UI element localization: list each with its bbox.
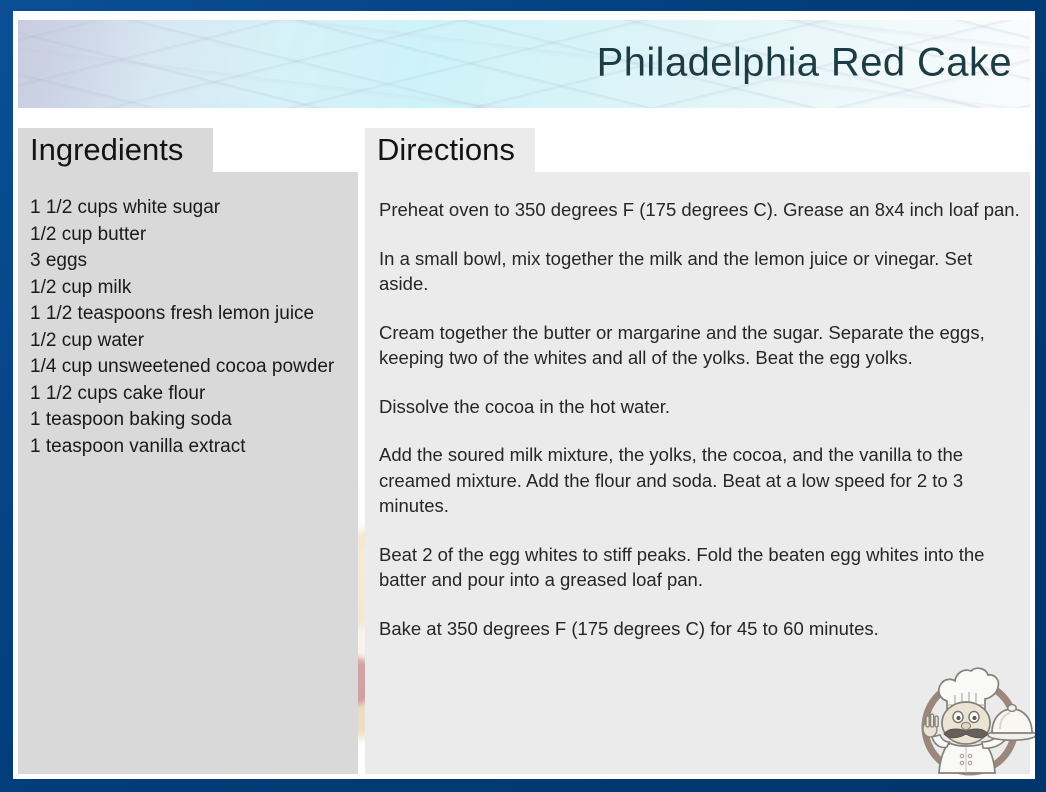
direction-step: Cream together the butter or margarine a… bbox=[379, 320, 1024, 371]
direction-step: Dissolve the cocoa in the hot water. bbox=[379, 394, 1024, 420]
ingredients-heading: Ingredients bbox=[18, 128, 213, 172]
ingredients-list: 1 1/2 cups white sugar 1/2 cup butter 3 … bbox=[30, 195, 354, 460]
list-item: 1/2 cup butter bbox=[30, 222, 354, 249]
recipe-card: Philadelphia Red Cake bbox=[0, 0, 1046, 792]
list-item: 3 eggs bbox=[30, 248, 354, 275]
list-item: 1 1/2 teaspoons fresh lemon juice bbox=[30, 301, 354, 328]
directions-steps: Preheat oven to 350 degrees F (175 degre… bbox=[379, 197, 1024, 641]
direction-step: Preheat oven to 350 degrees F (175 degre… bbox=[379, 197, 1024, 223]
direction-step: Add the soured milk mixture, the yolks, … bbox=[379, 442, 1024, 519]
directions-heading: Directions bbox=[365, 128, 535, 172]
list-item: 1 teaspoon vanilla extract bbox=[30, 434, 354, 461]
direction-step: Beat 2 of the egg whites to stiff peaks.… bbox=[379, 542, 1024, 593]
directions-panel: Preheat oven to 350 degrees F (175 degre… bbox=[365, 172, 1030, 774]
list-item: 1 teaspoon baking soda bbox=[30, 407, 354, 434]
list-item: 1 1/2 cups cake flour bbox=[30, 381, 354, 408]
list-item: 1/4 cup unsweetened cocoa powder bbox=[30, 354, 354, 381]
direction-step: Bake at 350 degrees F (175 degrees C) fo… bbox=[379, 616, 1024, 642]
ingredients-panel: 1 1/2 cups white sugar 1/2 cup butter 3 … bbox=[18, 172, 358, 774]
page-sheet: Philadelphia Red Cake bbox=[13, 11, 1035, 779]
list-item: 1/2 cup water bbox=[30, 328, 354, 355]
header-banner: Philadelphia Red Cake bbox=[18, 20, 1030, 108]
direction-step: In a small bowl, mix together the milk a… bbox=[379, 246, 1024, 297]
list-item: 1 1/2 cups white sugar bbox=[30, 195, 354, 222]
list-item: 1/2 cup milk bbox=[30, 275, 354, 302]
page-title: Philadelphia Red Cake bbox=[597, 41, 1012, 86]
